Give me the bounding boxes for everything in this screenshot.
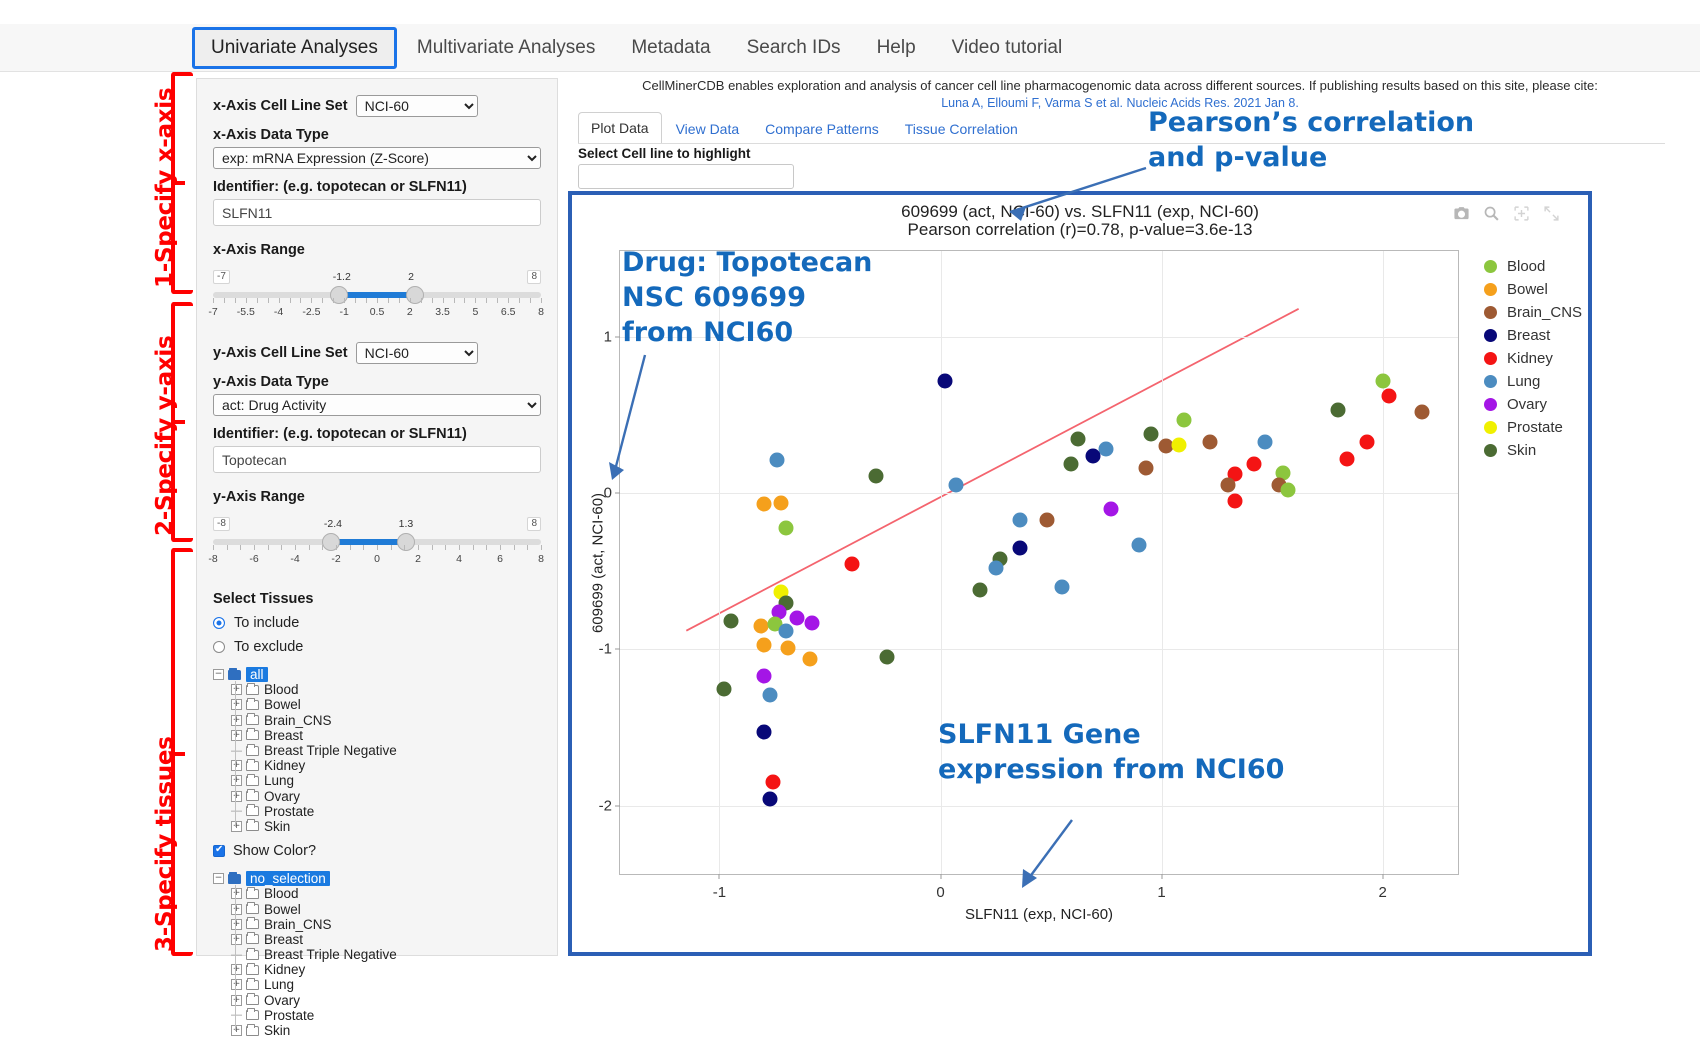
scatter-point[interactable]: [1258, 434, 1273, 449]
x-identifier-label: Identifier: (e.g. topotecan or SLFN11): [213, 179, 541, 195]
y-tick-mark: [615, 805, 620, 806]
tree-item-label: Blood: [264, 886, 299, 901]
tree-item-label: Breast: [264, 932, 303, 947]
folder-icon: [246, 1010, 259, 1020]
slider-tick-label: -5.5: [237, 306, 255, 318]
scatter-point[interactable]: [1360, 434, 1375, 449]
scatter-point[interactable]: [869, 469, 884, 484]
scatter-point[interactable]: [1070, 431, 1085, 446]
scatter-point[interactable]: [988, 561, 1003, 576]
folder-open-icon: [228, 874, 241, 884]
x-range-slider[interactable]: -7 8 -1.2 2 -7-5.5-4-2.5-10.523.556.58: [213, 270, 541, 326]
scatter-point[interactable]: [781, 640, 796, 655]
y-cellline-select[interactable]: NCI-60: [356, 342, 478, 364]
tree-item-brain-cns[interactable]: +Brain_CNS: [213, 713, 541, 728]
x-tick-mark: [1161, 874, 1162, 879]
gridline-vertical: [1383, 251, 1384, 874]
legend-label: Kidney: [1507, 350, 1553, 367]
highlight-cellline-label: Select Cell line to highlight: [578, 146, 751, 161]
scatter-point[interactable]: [765, 775, 780, 790]
subtab-divider: [578, 143, 1665, 144]
select-tissues-label: Select Tissues: [213, 591, 541, 607]
legend-item-prostate[interactable]: Prostate: [1484, 416, 1582, 439]
scatter-point[interactable]: [949, 478, 964, 493]
slider-tick-label: -7: [208, 306, 217, 318]
tree-item-lung[interactable]: +Lung: [213, 773, 541, 788]
legend-item-kidney[interactable]: Kidney: [1484, 347, 1582, 370]
x-slider-low-value: -1.2: [333, 271, 351, 283]
scatter-point[interactable]: [1103, 501, 1118, 516]
legend-label: Lung: [1507, 373, 1540, 390]
scatter-point[interactable]: [1382, 389, 1397, 404]
legend-color-swatch: [1484, 352, 1497, 365]
cite-line-1: CellMinerCDB enables exploration and ana…: [575, 78, 1665, 93]
scatter-point[interactable]: [1055, 579, 1070, 594]
tab-help[interactable]: Help: [861, 30, 932, 66]
x-range-min-edge: -7: [213, 270, 230, 284]
x-datatype-select[interactable]: exp: mRNA Expression (Z-Score): [213, 147, 541, 169]
x-tick-mark: [1382, 874, 1383, 879]
y-datatype-label: y-Axis Data Type: [213, 374, 541, 390]
tissue-tree-include[interactable]: −all+Blood+Bowel+Brain_CNS+Breast—Breast…: [213, 667, 541, 834]
folder-icon: [246, 950, 259, 960]
subtab-tissue-correlation[interactable]: Tissue Correlation: [893, 114, 1030, 144]
y-range-slider[interactable]: -8 8 -2.4 1.3 -8-6-4-202468: [213, 517, 541, 573]
folder-icon: [246, 821, 259, 831]
x-cellline-row: x-Axis Cell Line Set NCI-60: [213, 95, 541, 117]
tree-expand-icon[interactable]: +: [231, 919, 242, 930]
plot-legend: BloodBowelBrain_CNSBreastKidneyLungOvary…: [1484, 255, 1582, 462]
y-range-label: y-Axis Range: [213, 489, 541, 505]
tree-item-bowel[interactable]: +Bowel: [213, 901, 541, 916]
y-cellline-row: y-Axis Cell Line Set NCI-60: [213, 342, 541, 364]
scatter-point[interactable]: [1280, 483, 1295, 498]
cite-line-2[interactable]: Luna A, Elloumi F, Varma S et al. Nuclei…: [575, 96, 1665, 110]
legend-item-blood[interactable]: Blood: [1484, 255, 1582, 278]
tree-expand-icon[interactable]: +: [231, 730, 242, 741]
x-axis-label: SLFN11 (exp, NCI-60): [965, 906, 1113, 923]
tree-item-prostate[interactable]: —Prostate: [213, 1008, 541, 1023]
y-identifier-input[interactable]: [213, 446, 541, 473]
scatter-point[interactable]: [1099, 442, 1114, 457]
tree-collapse-icon[interactable]: −: [213, 669, 224, 680]
folder-icon: [246, 919, 259, 929]
scatter-point[interactable]: [1013, 512, 1028, 527]
tree-item-label: Skin: [264, 819, 290, 834]
slider-tick-label: 6: [497, 553, 503, 565]
scatter-point[interactable]: [716, 681, 731, 696]
tree-expand-icon[interactable]: +: [231, 964, 242, 975]
tree-root-no-selection[interactable]: −no_selection: [213, 871, 541, 886]
tree-item-label: Bowel: [264, 902, 301, 917]
legend-color-swatch: [1484, 375, 1497, 388]
tissue-tree-exclude[interactable]: −no_selection+Blood+Bowel+Brain_CNS+Brea…: [213, 871, 541, 1038]
control-panel: x-Axis Cell Line Set NCI-60 x-Axis Data …: [196, 78, 558, 956]
legend-label: Skin: [1507, 442, 1536, 459]
y-cellline-label: y-Axis Cell Line Set: [213, 345, 348, 361]
x-tick-mark: [940, 874, 941, 879]
x-cellline-select[interactable]: NCI-60: [356, 95, 478, 117]
folder-icon: [246, 715, 259, 725]
tree-leaf-icon: —: [231, 1009, 242, 1021]
y-range-max-edge: 8: [527, 517, 541, 531]
slider-tick-label: 4: [456, 553, 462, 565]
folder-icon: [246, 730, 259, 740]
legend-label: Breast: [1507, 327, 1550, 344]
tree-item-lung[interactable]: +Lung: [213, 977, 541, 992]
tree-leaf-icon: —: [231, 949, 242, 961]
radio-exclude-icon: [213, 641, 225, 653]
slider-tick-label: 0: [374, 553, 380, 565]
tree-item-label: Breast Triple Negative: [264, 743, 397, 758]
tab-video-tutorial[interactable]: Video tutorial: [936, 30, 1079, 66]
tree-item-skin[interactable]: +Skin: [213, 1023, 541, 1038]
tree-expand-icon[interactable]: +: [231, 904, 242, 915]
folder-open-icon: [228, 670, 241, 680]
y-axis-label: 609699 (act, NCI-60): [590, 492, 607, 632]
scatter-point[interactable]: [769, 453, 784, 468]
legend-color-swatch: [1484, 444, 1497, 457]
scatter-point[interactable]: [1375, 373, 1390, 388]
slider-tick-label: -8: [208, 553, 217, 565]
folder-icon: [246, 889, 259, 899]
scatter-point[interactable]: [1086, 448, 1101, 463]
radio-include-label: To include: [234, 615, 299, 631]
tree-root-all[interactable]: −all: [213, 667, 541, 682]
scatter-point[interactable]: [1340, 451, 1355, 466]
top-navbar: Univariate Analyses Multivariate Analyse…: [0, 24, 1700, 72]
slider-tick-label: -1: [340, 306, 349, 318]
x-slider-high-value: 2: [408, 271, 414, 283]
slider-tick-label: -2.5: [302, 306, 320, 318]
scatter-point[interactable]: [756, 669, 771, 684]
tree-item-skin[interactable]: +Skin: [213, 819, 541, 834]
scatter-point[interactable]: [1203, 434, 1218, 449]
x-tick-mark: [719, 874, 720, 879]
legend-color-swatch: [1484, 329, 1497, 342]
analysis-subtabs: Plot Data View Data Compare Patterns Tis…: [578, 112, 1030, 144]
tree-item-label: Blood: [264, 682, 299, 697]
plot-subtitle: Pearson correlation (r)=0.78, p-value=3.…: [572, 220, 1588, 240]
x-tick-label: -1: [713, 884, 726, 901]
legend-color-swatch: [1484, 421, 1497, 434]
tree-item-label: Brain_CNS: [264, 713, 332, 728]
legend-label: Bowel: [1507, 281, 1548, 298]
tree-expand-icon[interactable]: +: [231, 791, 242, 802]
tree-item-label: Lung: [264, 977, 294, 992]
legend-item-brain_cns[interactable]: Brain_CNS: [1484, 301, 1582, 324]
folder-icon: [246, 746, 259, 756]
tree-item-label: Ovary: [264, 993, 300, 1008]
tree-expand-icon[interactable]: +: [231, 760, 242, 771]
y-tick-mark: [615, 336, 620, 337]
folder-icon: [246, 806, 259, 816]
scatter-point[interactable]: [803, 651, 818, 666]
radio-include-icon: [213, 617, 225, 629]
tree-item-label: Kidney: [264, 758, 305, 773]
scatter-point[interactable]: [1227, 494, 1242, 509]
x-range-max-edge: 8: [527, 270, 541, 284]
folder-icon: [246, 1026, 259, 1036]
checkbox-icon: [213, 845, 225, 857]
scatter-point[interactable]: [1139, 461, 1154, 476]
folder-icon: [246, 700, 259, 710]
scatter-point[interactable]: [723, 614, 738, 629]
y-slider-numbers: -8-6-4-202468: [213, 553, 541, 567]
scatter-point[interactable]: [1063, 456, 1078, 471]
scatter-point[interactable]: [1331, 403, 1346, 418]
scatter-point[interactable]: [778, 520, 793, 535]
folder-icon: [246, 761, 259, 771]
y-tick-label: 0: [604, 485, 612, 502]
y-tick-label: -2: [599, 797, 612, 814]
radio-to-include[interactable]: To include: [213, 615, 541, 631]
tree-collapse-icon[interactable]: −: [213, 873, 224, 884]
slider-tick-label: 5: [472, 306, 478, 318]
slider-tick-label: -4: [274, 306, 283, 318]
tree-item-label: Prostate: [264, 1008, 314, 1023]
tree-item-label: Lung: [264, 773, 294, 788]
scatter-point[interactable]: [805, 615, 820, 630]
legend-color-swatch: [1484, 306, 1497, 319]
y-slider-ticks: [213, 545, 541, 553]
slider-tick-label: -4: [290, 553, 299, 565]
legend-label: Brain_CNS: [1507, 304, 1582, 321]
show-color-checkbox[interactable]: Show Color?: [213, 843, 541, 859]
subtab-view-data[interactable]: View Data: [664, 114, 752, 144]
scatter-point[interactable]: [1039, 512, 1054, 527]
folder-icon: [246, 776, 259, 786]
legend-item-ovary[interactable]: Ovary: [1484, 393, 1582, 416]
gridline-horizontal: [620, 493, 1458, 494]
tree-item-breast-triple-negative[interactable]: —Breast Triple Negative: [213, 743, 541, 758]
legend-color-swatch: [1484, 283, 1497, 296]
scatter-point[interactable]: [1415, 404, 1430, 419]
subtab-plot-data[interactable]: Plot Data: [578, 112, 662, 144]
tree-item-label: Prostate: [264, 804, 314, 819]
scatter-point[interactable]: [1132, 537, 1147, 552]
tree-expand-icon[interactable]: +: [231, 995, 242, 1006]
slider-tick-label: 8: [538, 553, 544, 565]
slider-tick-label: 2: [415, 553, 421, 565]
tree-item-label: Breast Triple Negative: [264, 947, 397, 962]
folder-icon: [246, 995, 259, 1005]
step3-label: 3-Specify tissues: [152, 736, 178, 952]
scatter-point[interactable]: [1176, 412, 1191, 427]
highlight-cellline-input[interactable]: [578, 164, 794, 189]
folder-icon: [246, 685, 259, 695]
x-range-label: x-Axis Range: [213, 242, 541, 258]
y-tick-mark: [615, 649, 620, 650]
y-tick-mark: [615, 493, 620, 494]
tree-item-label: Bowel: [264, 697, 301, 712]
tree-item-label: Ovary: [264, 789, 300, 804]
x-tick-label: 2: [1378, 884, 1386, 901]
tab-search-ids[interactable]: Search IDs: [731, 30, 857, 66]
tree-expand-icon[interactable]: +: [231, 715, 242, 726]
scatter-point[interactable]: [1172, 437, 1187, 452]
x-tick-label: 1: [1157, 884, 1165, 901]
callout-drug: Drug: Topotecan NSC 609699 from NCI60: [622, 245, 872, 350]
plot-title: 609699 (act, NCI-60) vs. SLFN11 (exp, NC…: [572, 202, 1588, 222]
tree-root-label: all: [246, 667, 268, 682]
y-slider-low-value: -2.4: [324, 518, 342, 530]
tree-connector: [235, 885, 236, 1031]
scatter-point[interactable]: [763, 792, 778, 807]
tree-leaf-icon: —: [231, 745, 242, 757]
tab-univariate-analyses[interactable]: Univariate Analyses: [192, 27, 397, 69]
tree-item-prostate[interactable]: —Prostate: [213, 804, 541, 819]
tree-expand-icon[interactable]: +: [231, 888, 242, 899]
y-tick-label: 1: [604, 328, 612, 345]
slider-tick-label: 6.5: [501, 306, 516, 318]
scatter-point[interactable]: [973, 583, 988, 598]
slider-tick-label: -2: [331, 553, 340, 565]
legend-item-lung[interactable]: Lung: [1484, 370, 1582, 393]
y-range-min-edge: -8: [213, 517, 230, 531]
tree-expand-icon[interactable]: +: [231, 684, 242, 695]
tree-item-breast-triple-negative[interactable]: —Breast Triple Negative: [213, 947, 541, 962]
scatter-point[interactable]: [1220, 478, 1235, 493]
scatter-point[interactable]: [1247, 456, 1262, 471]
tree-item-bowel[interactable]: +Bowel: [213, 697, 541, 712]
tree-item-kidney[interactable]: +Kidney: [213, 758, 541, 773]
folder-icon: [246, 934, 259, 944]
tree-item-label: Breast: [264, 728, 303, 743]
show-color-label: Show Color?: [233, 843, 316, 859]
scatter-point[interactable]: [845, 556, 860, 571]
y-tick-label: -1: [599, 641, 612, 658]
x-tick-label: 0: [936, 884, 944, 901]
y-slider-high-value: 1.3: [399, 518, 414, 530]
tree-item-label: Skin: [264, 1023, 290, 1038]
step1-label: 1-Specify x-axis: [152, 88, 178, 288]
tree-expand-icon[interactable]: +: [231, 934, 242, 945]
tree-expand-icon[interactable]: +: [231, 775, 242, 786]
scatter-point[interactable]: [774, 495, 789, 510]
main-tabs: Univariate Analyses Multivariate Analyse…: [192, 24, 1078, 72]
slider-tick-label: -6: [249, 553, 258, 565]
x-datatype-label: x-Axis Data Type: [213, 127, 541, 143]
scatter-point[interactable]: [763, 687, 778, 702]
y-identifier-label: Identifier: (e.g. topotecan or SLFN11): [213, 426, 541, 442]
legend-item-bowel[interactable]: Bowel: [1484, 278, 1582, 301]
tab-metadata[interactable]: Metadata: [615, 30, 726, 66]
folder-icon: [246, 904, 259, 914]
tab-multivariate-analyses[interactable]: Multivariate Analyses: [401, 30, 611, 66]
legend-label: Blood: [1507, 258, 1545, 275]
slider-tick-label: 2: [407, 306, 413, 318]
tree-expand-icon[interactable]: +: [231, 979, 242, 990]
callout-pearson: Pearson’s correlation and p-value: [1148, 105, 1474, 175]
scatter-point[interactable]: [880, 650, 895, 665]
scatter-point[interactable]: [789, 611, 804, 626]
gridline-horizontal: [620, 649, 1458, 650]
scatter-point[interactable]: [778, 623, 793, 638]
tree-connector: [235, 681, 236, 827]
scatter-point[interactable]: [756, 725, 771, 740]
tree-item-kidney[interactable]: +Kidney: [213, 962, 541, 977]
tree-item-brain-cns[interactable]: +Brain_CNS: [213, 917, 541, 932]
tree-item-ovary[interactable]: +Ovary: [213, 993, 541, 1008]
step2-label: 2-Specify y-axis: [152, 336, 178, 536]
tree-leaf-icon: —: [231, 805, 242, 817]
scatter-point[interactable]: [1143, 426, 1158, 441]
tree-root-label: no_selection: [246, 871, 330, 886]
gridline-horizontal: [620, 806, 1458, 807]
x-slider-ticks: [213, 298, 541, 306]
slider-tick-label: 3.5: [435, 306, 450, 318]
legend-color-swatch: [1484, 398, 1497, 411]
folder-icon: [246, 980, 259, 990]
legend-label: Prostate: [1507, 419, 1563, 436]
radio-to-exclude[interactable]: To exclude: [213, 639, 541, 655]
radio-exclude-label: To exclude: [234, 639, 303, 655]
slider-tick-label: 0.5: [370, 306, 385, 318]
x-cellline-label: x-Axis Cell Line Set: [213, 98, 348, 114]
y-datatype-select[interactable]: act: Drug Activity: [213, 394, 541, 416]
legend-item-breast[interactable]: Breast: [1484, 324, 1582, 347]
x-identifier-input[interactable]: [213, 199, 541, 226]
scatter-point[interactable]: [756, 497, 771, 512]
tree-item-blood[interactable]: +Blood: [213, 886, 541, 901]
tree-item-breast[interactable]: +Breast: [213, 728, 541, 743]
scatter-point[interactable]: [756, 637, 771, 652]
tree-item-blood[interactable]: +Blood: [213, 682, 541, 697]
scatter-point[interactable]: [937, 373, 952, 388]
tree-expand-icon[interactable]: +: [231, 699, 242, 710]
tree-item-ovary[interactable]: +Ovary: [213, 789, 541, 804]
slider-tick-label: 8: [538, 306, 544, 318]
callout-gene: SLFN11 Gene expression from NCI60: [938, 717, 1284, 787]
subtab-compare-patterns[interactable]: Compare Patterns: [753, 114, 891, 144]
tree-item-label: Kidney: [264, 962, 305, 977]
folder-icon: [246, 791, 259, 801]
tree-item-label: Brain_CNS: [264, 917, 332, 932]
folder-icon: [246, 965, 259, 975]
legend-label: Ovary: [1507, 396, 1547, 413]
legend-color-swatch: [1484, 260, 1497, 273]
tree-expand-icon[interactable]: +: [231, 821, 242, 832]
legend-item-skin[interactable]: Skin: [1484, 439, 1582, 462]
scatter-point[interactable]: [1013, 540, 1028, 555]
x-slider-numbers: -7-5.5-4-2.5-10.523.556.58: [213, 306, 541, 320]
tree-expand-icon[interactable]: +: [231, 1025, 242, 1036]
tree-item-breast[interactable]: +Breast: [213, 932, 541, 947]
